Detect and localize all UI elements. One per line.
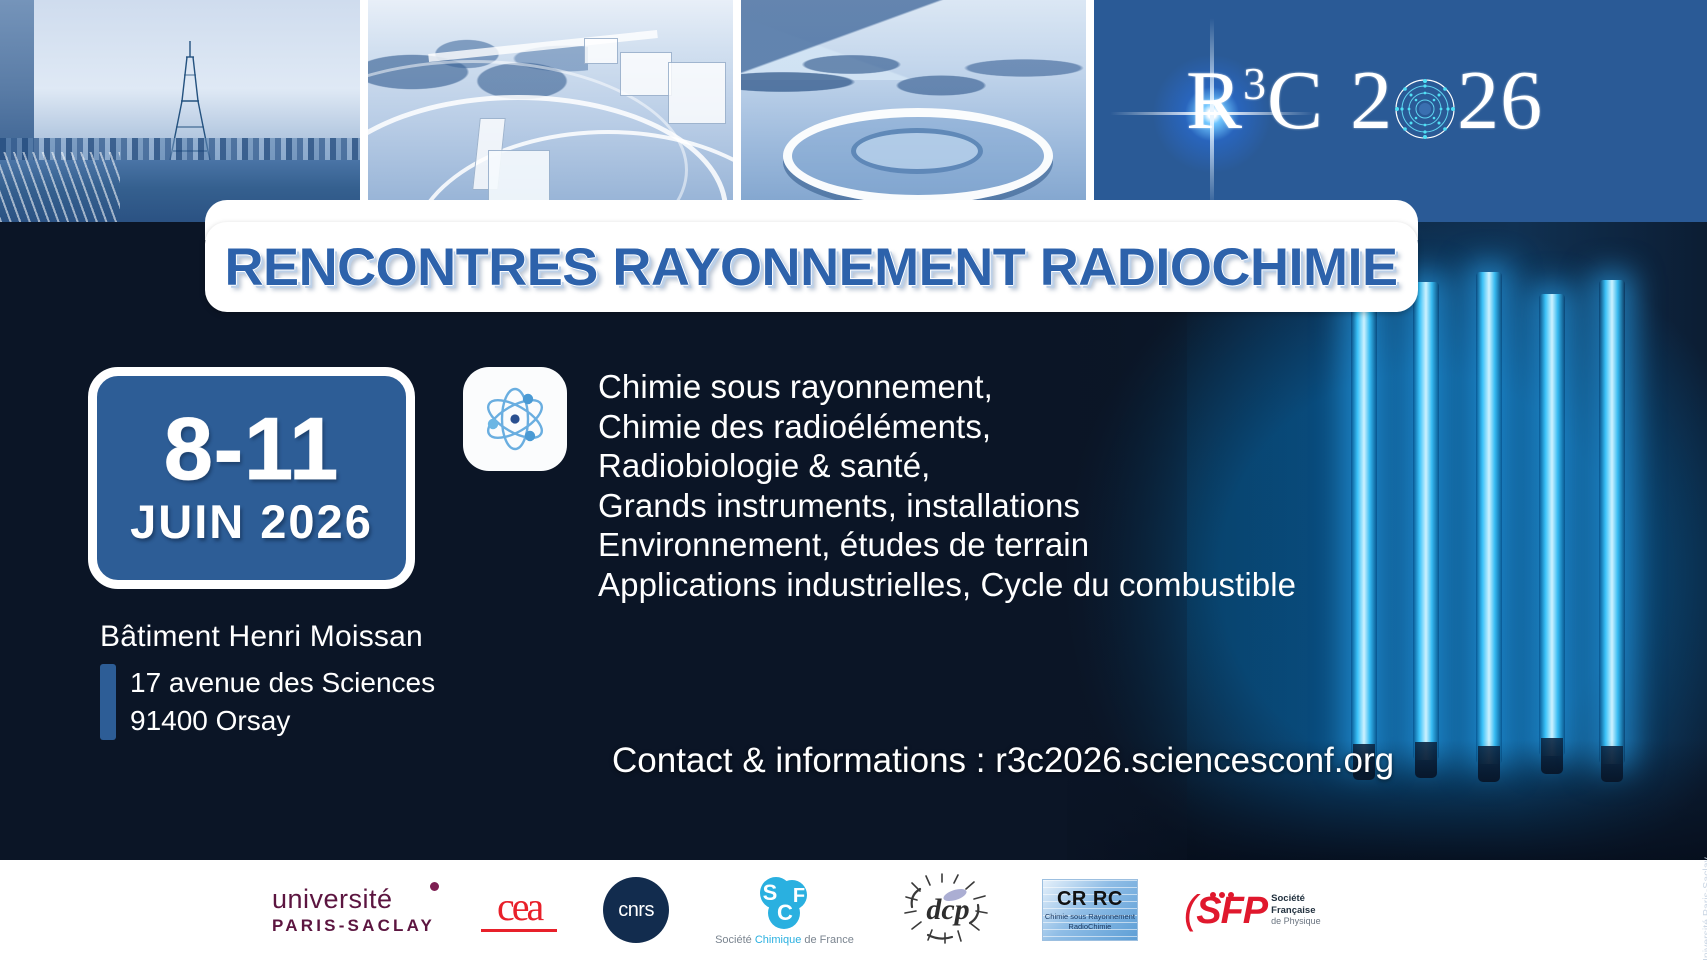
dcp-logo[interactable]: dcp — [900, 873, 996, 947]
scf-mark-icon: S C F — [752, 875, 818, 931]
topic-item: Environnement, études de terrain — [598, 525, 1298, 565]
glowing-tube-decor — [1476, 272, 1502, 764]
logo-superscript-3: 3 — [1243, 58, 1267, 109]
topic-item: Chimie sous rayonnement, — [598, 367, 1298, 407]
synchrotron-trees-decor — [741, 40, 1086, 110]
cnrs-wordmark: cnrs — [618, 899, 654, 922]
cea-logo[interactable]: cea — [481, 889, 557, 932]
sponsor-footer: université PARIS-SACLAY cea cnrs S C — [0, 860, 1707, 960]
cea-wordmark: cea — [497, 889, 541, 925]
cea-underline-decor — [481, 929, 557, 932]
event-date-card: 8-11 JUIN 2026 — [88, 367, 415, 589]
sfp-caption-1: Société — [1271, 893, 1305, 904]
campus-building-decor — [488, 150, 550, 204]
road-light-streaks-decor — [0, 152, 120, 222]
glowing-tube-decor — [1599, 280, 1625, 764]
venue-street: 17 avenue des Sciences — [130, 664, 435, 702]
conference-poster: R3C2 — [0, 0, 1707, 960]
logo-letter-c: C — [1267, 54, 1324, 147]
glowing-tube-decor — [1539, 294, 1565, 756]
paris-eiffel-tower-photo — [0, 0, 360, 222]
logo-letter-r: R — [1186, 54, 1243, 147]
societe-chimique-de-france-logo[interactable]: S C F Société Chimique de France — [715, 875, 854, 946]
topic-item: Radiobiologie & santé, — [598, 446, 1298, 486]
r3c-logo-panel: R3C2 — [1094, 0, 1707, 222]
venue-building-name: Bâtiment Henri Moissan — [100, 620, 500, 654]
ups-line-1: université — [272, 886, 393, 913]
universite-paris-saclay-logo[interactable]: université PARIS-SACLAY — [272, 886, 435, 934]
photo-credit: ©Service communication et évènementiel -… — [1701, 857, 1707, 960]
scf-caption-2: Chimique — [755, 934, 801, 946]
sfp-caption-2: Française — [1271, 905, 1315, 916]
campus-aerial-photo — [368, 0, 733, 222]
logo-year-start: 2 — [1350, 54, 1393, 147]
synchrotron-aerial-photo — [741, 0, 1086, 222]
event-month-year: JUIN 2026 — [130, 498, 373, 545]
glowing-tube-decor — [1413, 282, 1439, 760]
sfp-dots-icon — [1210, 885, 1237, 903]
header-photo-strip: R3C2 — [0, 0, 1707, 222]
sfp-logo[interactable]: (SFP Société Française de Physique — [1184, 888, 1321, 933]
crrc-sub-1: Chimie sous Rayonnement — [1045, 912, 1135, 921]
svg-text:S: S — [762, 880, 777, 905]
event-date-range: 8-11 — [164, 407, 339, 491]
ups-dot-icon — [430, 882, 439, 891]
topic-item: Grands instruments, installations — [598, 486, 1298, 526]
crrc-wordmark: CR RC — [1057, 889, 1123, 909]
scf-caption: Société Chimique de France — [715, 934, 854, 946]
venue-block: Bâtiment Henri Moissan 17 avenue des Sci… — [100, 620, 500, 740]
campus-building-decor — [584, 38, 618, 64]
venue-city: 91400 Orsay — [130, 702, 435, 740]
crrc-logo[interactable]: CR RC Chimie sous Rayonnement RadioChimi… — [1042, 879, 1138, 941]
svg-text:dcp: dcp — [926, 893, 969, 926]
ups-line-2: PARIS-SACLAY — [272, 917, 435, 934]
logo-year-end: 26 — [1457, 54, 1543, 147]
synchrotron-inner-ring-decor — [851, 128, 983, 174]
atom-icon — [463, 367, 567, 471]
scf-caption-1: Société — [715, 934, 755, 946]
topic-item: Applications industrielles, Cycle du com… — [598, 565, 1298, 605]
scf-caption-3: de France — [801, 934, 854, 946]
contact-info[interactable]: Contact & informations : r3c2026.science… — [612, 741, 1394, 781]
page-title: RENCONTRES RAYONNEMENT RADIOCHIMIE — [225, 237, 1398, 298]
crrc-sub-2: RadioChimie — [1045, 922, 1135, 931]
sfp-caption-3: de Physique — [1271, 916, 1321, 926]
title-banner: RENCONTRES RAYONNEMENT RADIOCHIMIE — [205, 222, 1418, 312]
campus-building-decor — [620, 52, 672, 96]
svg-text:F: F — [792, 885, 804, 907]
r3c-2026-logo: R3C2 — [1186, 52, 1543, 149]
glowing-tube-decor — [1351, 262, 1377, 762]
cnrs-logo[interactable]: cnrs — [603, 877, 669, 943]
svg-text:C: C — [777, 900, 793, 925]
topic-item: Chimie des radioéléments, — [598, 407, 1298, 447]
campus-building-decor — [668, 62, 726, 124]
venue-accent-bar — [100, 664, 116, 740]
sfp-caption: Société Française de Physique — [1271, 893, 1321, 927]
topics-list: Chimie sous rayonnement, Chimie des radi… — [598, 367, 1298, 604]
atom-symbol-icon — [1394, 78, 1456, 140]
